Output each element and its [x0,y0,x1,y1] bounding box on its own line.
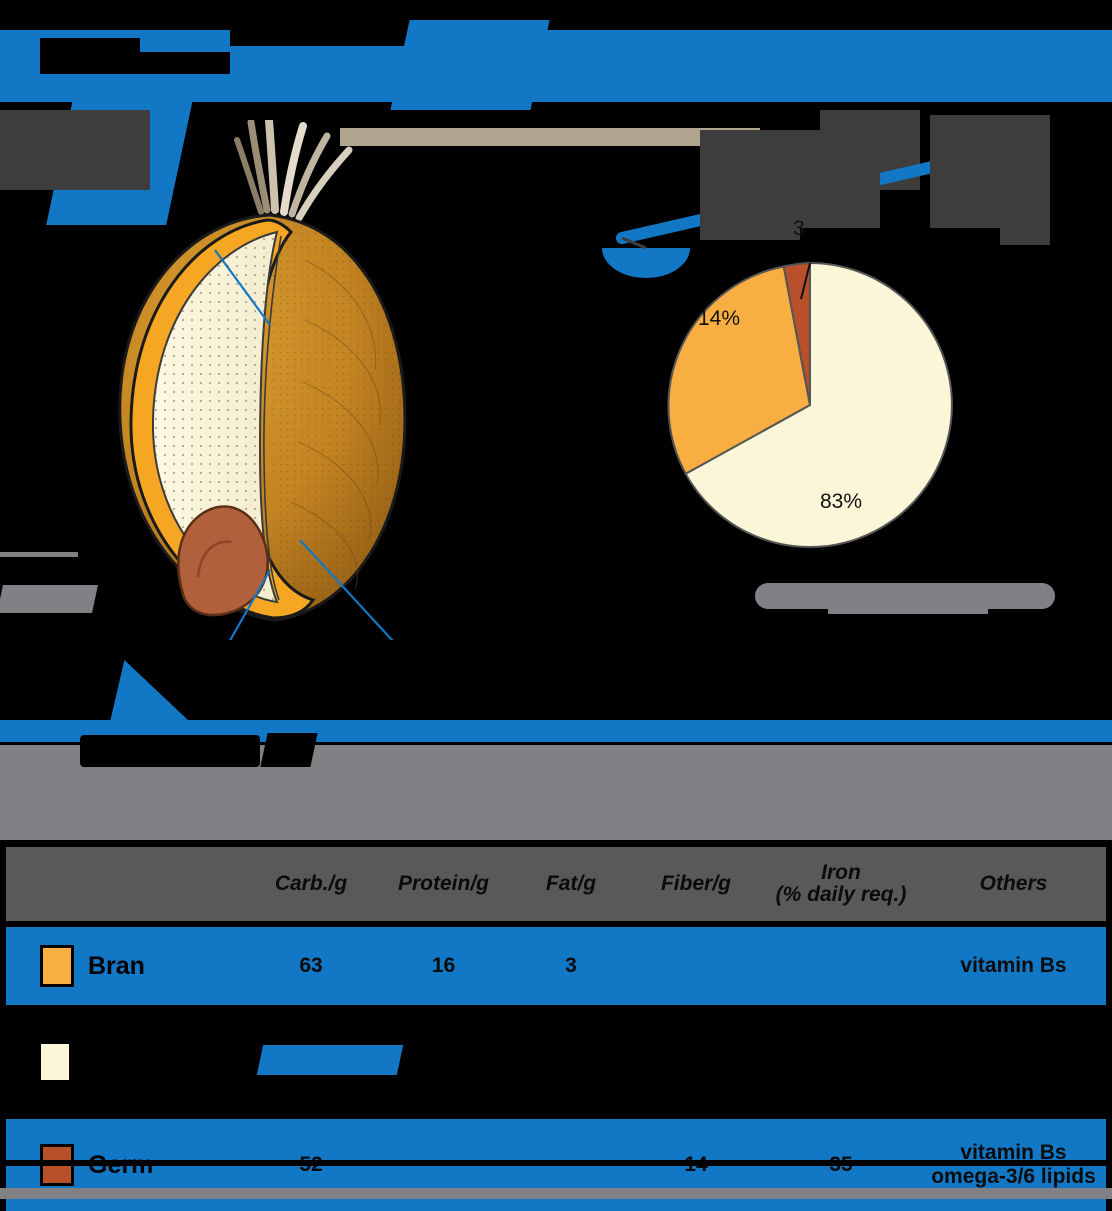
th-iron-line1: Iron [761,862,921,884]
composition-pie-chart: 83% 14% 3 [660,255,960,555]
endosperm-carb-obscured [257,1045,403,1075]
th-iron: Iron (% daily req.) [761,862,921,906]
cell-bran-others: vitamin Bs [921,954,1106,978]
brush-hairs-group [237,120,349,218]
footer-band [0,1188,1112,1199]
pie-label-bran: 14% [698,307,740,331]
row-endosperm-name-cell [4,1041,244,1083]
cell-bran-fat: 3 [511,954,631,978]
wheat-kernel-illustration [55,120,475,640]
grain-label-mask-2 [0,552,78,557]
bran-color-swatch [40,945,74,987]
row-gap-2 [4,1005,1108,1023]
th-protein: Protein/g [376,873,511,895]
caption-text-obscured-2 [260,733,317,767]
endosperm-color-swatch [38,1041,72,1083]
grain-label-mask-1 [0,585,98,613]
th-iron-line2: (% daily req.) [761,884,921,906]
table-row[interactable]: Bran 63 16 3 vitamin Bs [4,927,1108,1005]
leader-callout-left [110,660,190,722]
table-header-row: Carb./g Protein/g Fat/g Fiber/g Iron (% … [4,845,1108,923]
infographic-canvas: 83% 14% 3 Carb./g Protein/g Fat/g Fiber/… [0,0,1112,1199]
cell-germ-others-line2: omega-3/6 lipids [921,1165,1106,1189]
scale-label-shadow [700,130,880,240]
cell-bran-protein: 16 [376,954,511,978]
table-row[interactable] [4,1023,1108,1101]
pie-label-germ: 3 [793,217,805,241]
pie-caption-obscured-2 [828,600,988,614]
pie-label-endosperm: 83% [820,490,862,514]
row-bran-name-cell: Bran [6,945,246,987]
subtitle-highlight-right [390,20,549,110]
nutrition-table: Carb./g Protein/g Fat/g Fiber/g Iron (% … [4,845,1108,1211]
scale-label-shadow-2 [930,115,1050,245]
row-gap-3 [4,1101,1108,1119]
title-text-obscured-2 [40,52,230,74]
scale-caption-obscured [800,228,1000,254]
cell-bran-carb: 63 [246,954,376,978]
th-others: Others [921,873,1106,895]
row-label-bran: Bran [88,952,145,981]
th-fat: Fat/g [511,873,631,895]
footer-divider [0,1160,1112,1166]
caption-text-obscured [80,735,260,767]
pie-svg [660,255,960,555]
th-fiber: Fiber/g [631,873,761,895]
th-carb: Carb./g [246,873,376,895]
